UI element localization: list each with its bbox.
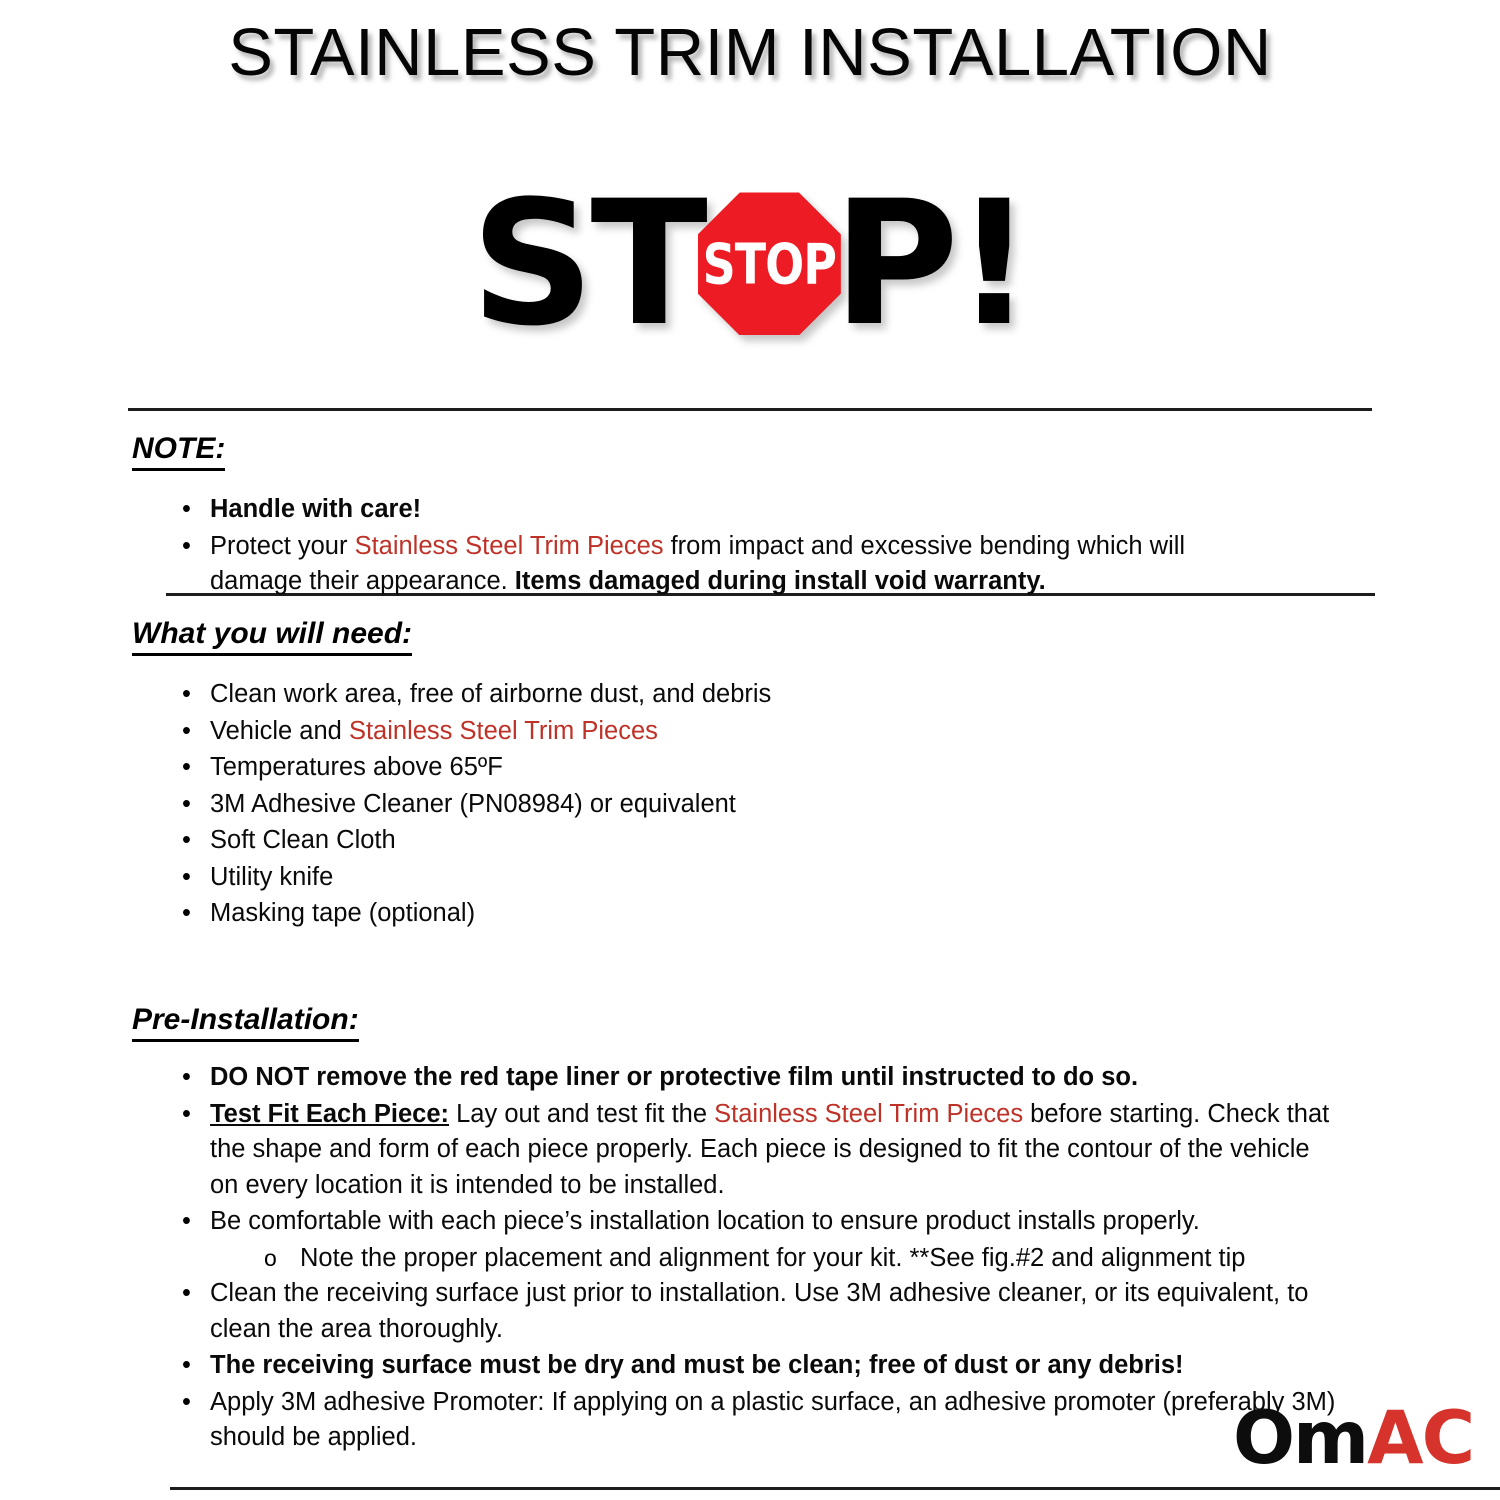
list-item: •Soft Clean Cloth (182, 823, 1182, 859)
list-item-text: DO NOT remove the red tape liner or prot… (210, 1063, 1138, 1091)
stop-wordmark: ST STOP P! (471, 185, 1030, 343)
bullet-marker-icon: • (182, 714, 191, 750)
text-run: Protect your (210, 532, 355, 560)
text-run: Stainless Steel Trim Pieces (355, 532, 664, 560)
bullet-marker-icon: • (182, 1204, 191, 1240)
omac-logo-dark: Om (1233, 1396, 1367, 1481)
bullet-marker-icon: • (182, 529, 191, 565)
document-page: STAINLESS TRIM INSTALLATION ST STOP P! N… (0, 0, 1500, 1500)
list-item-text: Soft Clean Cloth (210, 826, 396, 854)
stop-right-letters: P! (833, 185, 1030, 343)
bullet-marker-icon: • (182, 896, 191, 932)
text-run: Items damaged during install void warran… (515, 567, 1046, 595)
sub-list-item-text: Note the proper placement and alignment … (300, 1244, 1245, 1272)
bullet-marker-icon: • (182, 1097, 191, 1133)
list-item-text: Masking tape (optional) (210, 899, 475, 927)
list-item-text: Utility knife (210, 863, 333, 891)
list-item: •Handle with care! (182, 492, 1282, 528)
list-item: •3M Adhesive Cleaner (PN08984) or equiva… (182, 787, 1182, 823)
list-item-text: Test Fit Each Piece: Lay out and test fi… (210, 1100, 1329, 1199)
page-title: STAINLESS TRIM INSTALLATION (0, 14, 1500, 91)
list-item: •Masking tape (optional) (182, 896, 1182, 932)
list-item-text: 3M Adhesive Cleaner (PN08984) or equival… (210, 790, 736, 818)
bullet-marker-icon: • (182, 1385, 191, 1421)
list-item-text: Temperatures above 65ºF (210, 753, 503, 781)
list-item-text: Handle with care! (210, 495, 421, 523)
text-run: Vehicle and (210, 717, 349, 745)
list-item: •The receiving surface must be dry and m… (182, 1348, 1342, 1384)
omac-logo-red: AC (1367, 1396, 1473, 1481)
list-item-text: Protect your Stainless Steel Trim Pieces… (210, 532, 1185, 596)
text-run: The receiving surface must be dry and mu… (210, 1351, 1184, 1379)
text-run: DO NOT remove the red tape liner or prot… (210, 1063, 1138, 1091)
section-heading-what-you-will-need: What you will need: (132, 618, 412, 656)
bullet-marker-icon: • (182, 492, 191, 528)
pre-installation-bullet-list: •DO NOT remove the red tape liner or pro… (182, 1060, 1342, 1457)
section-heading-pre-installation: Pre-Installation: (132, 1004, 359, 1042)
divider-top (128, 408, 1372, 411)
list-item: •Temperatures above 65ºF (182, 750, 1182, 786)
text-run: Clean work area, free of airborne dust, … (210, 680, 771, 708)
sub-list-item: oNote the proper placement and alignment… (264, 1241, 1342, 1277)
list-item-text: Clean the receiving surface just prior t… (210, 1279, 1309, 1343)
sub-bullet-marker-icon: o (264, 1241, 277, 1277)
divider-bottom (170, 1487, 1500, 1490)
list-item: •DO NOT remove the red tape liner or pro… (182, 1060, 1342, 1096)
bullet-marker-icon: • (182, 823, 191, 859)
list-item: •Utility knife (182, 860, 1182, 896)
list-item-text: Be comfortable with each piece’s install… (210, 1207, 1200, 1235)
bullet-marker-icon: • (182, 677, 191, 713)
text-run: Stainless Steel Trim Pieces (349, 717, 658, 745)
text-run: Soft Clean Cloth (210, 826, 396, 854)
text-run: Masking tape (optional) (210, 899, 475, 927)
text-run: Temperatures above 65ºF (210, 753, 503, 781)
text-run: Handle with care! (210, 495, 421, 523)
list-item: •Test Fit Each Piece: Lay out and test f… (182, 1097, 1342, 1204)
text-run: Stainless Steel Trim Pieces (714, 1100, 1023, 1128)
text-run: Apply 3M adhesive Promoter: If applying … (210, 1388, 1335, 1452)
list-item: •Protect your Stainless Steel Trim Piece… (182, 529, 1282, 600)
omac-logo: OmAC (1233, 1402, 1473, 1475)
bullet-marker-icon: • (182, 1348, 191, 1384)
stop-sign-label: STOP (703, 236, 836, 292)
list-item-text: Clean work area, free of airborne dust, … (210, 680, 771, 708)
text-run: Clean the receiving surface just prior t… (210, 1279, 1309, 1343)
bullet-marker-icon: • (182, 1060, 191, 1096)
list-item: •Clean the receiving surface just prior … (182, 1276, 1342, 1347)
note-bullet-list: •Handle with care!•Protect your Stainles… (182, 492, 1282, 601)
bullet-marker-icon: • (182, 1276, 191, 1312)
bullet-marker-icon: • (182, 787, 191, 823)
list-item-text: Vehicle and Stainless Steel Trim Pieces (210, 717, 658, 745)
list-item: •Clean work area, free of airborne dust,… (182, 677, 1182, 713)
text-run: 3M Adhesive Cleaner (PN08984) or equival… (210, 790, 736, 818)
text-run: Lay out and test fit the (449, 1100, 714, 1128)
what-you-will-need-bullet-list: •Clean work area, free of airborne dust,… (182, 677, 1182, 933)
text-run: Utility knife (210, 863, 333, 891)
section-heading-note: NOTE: (132, 433, 225, 471)
stop-left-letters: ST (471, 185, 704, 343)
text-run: Test Fit Each Piece: (210, 1100, 449, 1128)
list-item-text: Apply 3M adhesive Promoter: If applying … (210, 1388, 1335, 1452)
stop-sign-octagon-icon: STOP (698, 192, 841, 335)
text-run: Be comfortable with each piece’s install… (210, 1207, 1200, 1235)
list-item: •Be comfortable with each piece’s instal… (182, 1204, 1342, 1240)
stop-logo: ST STOP P! (0, 176, 1500, 352)
bullet-marker-icon: • (182, 860, 191, 896)
list-item-text: The receiving surface must be dry and mu… (210, 1351, 1184, 1379)
bullet-marker-icon: • (182, 750, 191, 786)
list-item: •Vehicle and Stainless Steel Trim Pieces (182, 714, 1182, 750)
list-item: •Apply 3M adhesive Promoter: If applying… (182, 1385, 1342, 1456)
